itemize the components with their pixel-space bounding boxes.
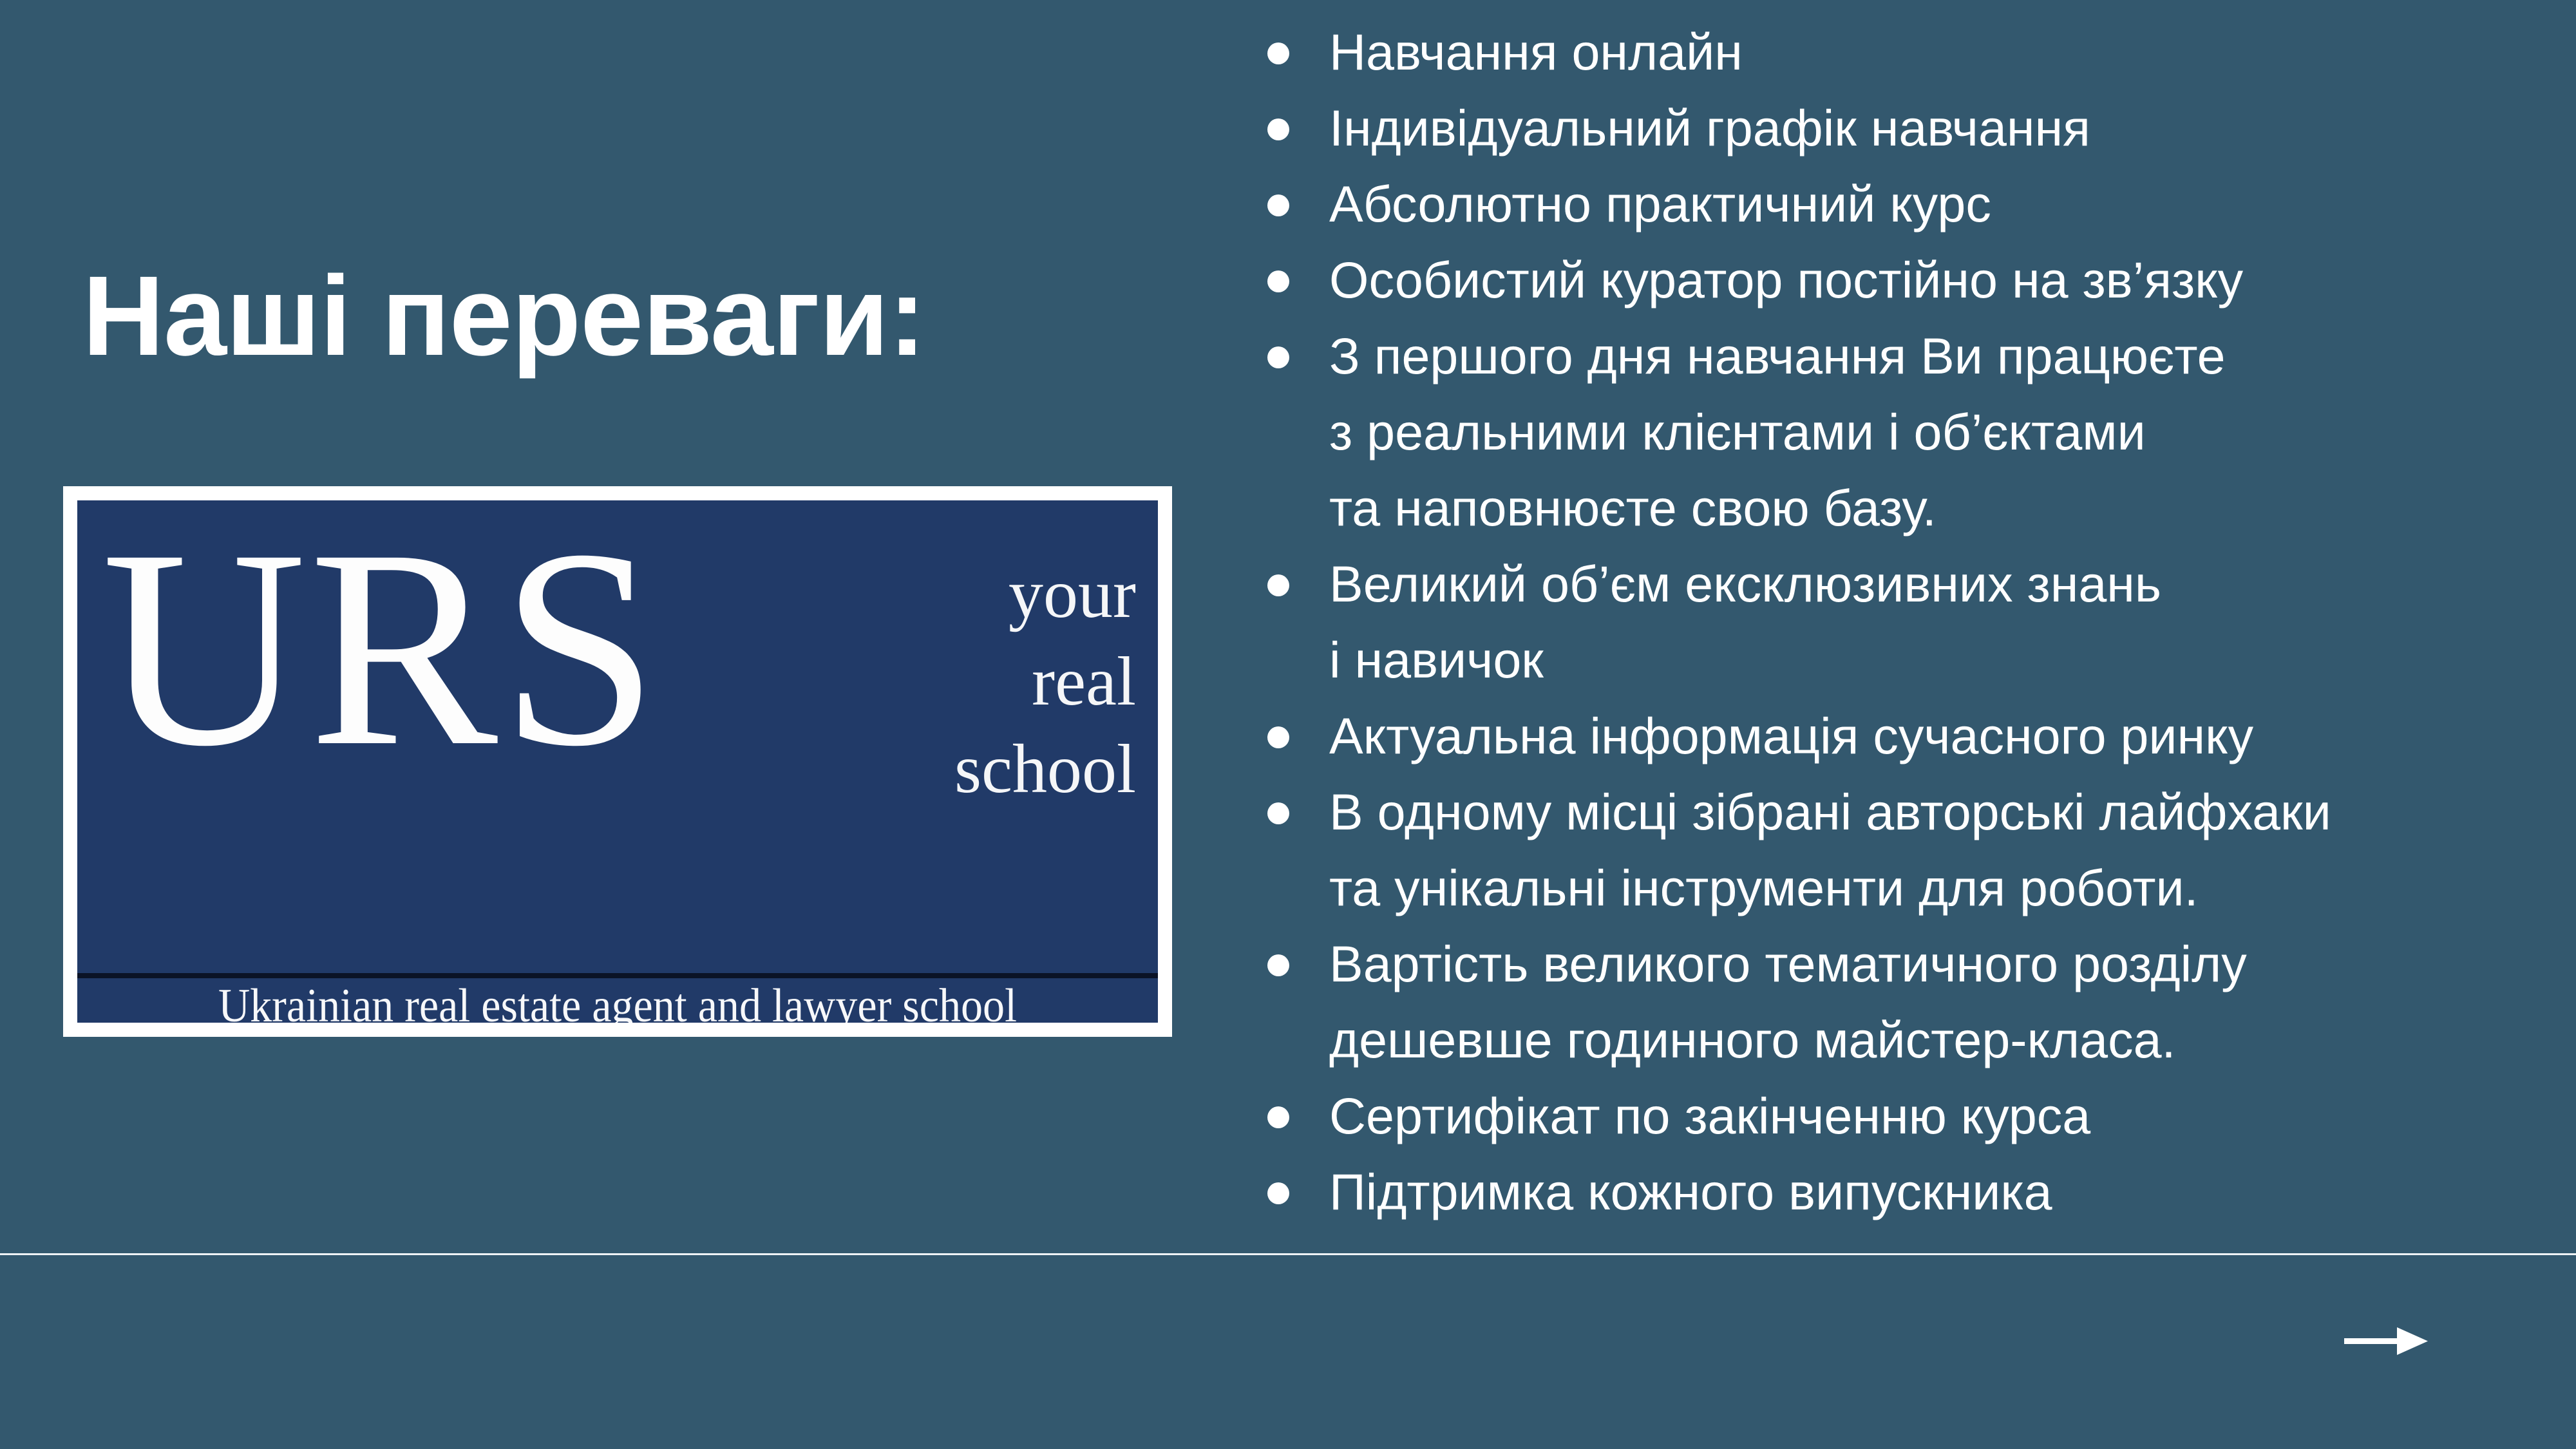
- bullet-dot-icon: [1267, 194, 1289, 216]
- list-item-line: з реальними клієнтами і об’єктами: [1329, 394, 2552, 470]
- bullet-dot-icon: [1267, 1106, 1289, 1128]
- list-item: Сертифікат по закінченню курса: [1264, 1078, 2552, 1154]
- list-item: Індивідуальний графік навчання: [1264, 90, 2552, 166]
- bullet-dot-icon: [1267, 43, 1289, 64]
- urs-tagline-line-3: school: [833, 726, 1136, 813]
- slide: Наші переваги: URS your real school Ukra…: [0, 0, 2576, 1449]
- arrow-right-icon[interactable]: [2344, 1319, 2428, 1364]
- bullet-dot-icon: [1267, 574, 1289, 596]
- urs-logo-subtitle: Ukrainian real estate agent and lawyer s…: [120, 982, 1115, 1023]
- urs-wordmark: URS: [102, 507, 661, 790]
- list-item-line: Підтримка кожного випускника: [1329, 1154, 2552, 1230]
- list-item-line: Актуальна інформація сучасного ринку: [1329, 698, 2552, 774]
- list-item-line: і навичок: [1329, 622, 2552, 698]
- bullet-dot-icon: [1267, 802, 1289, 824]
- list-item-line: Абсолютно практичний курс: [1329, 166, 2552, 242]
- list-item: В одному місці зібрані авторські лайфхак…: [1264, 774, 2552, 926]
- list-item: Актуальна інформація сучасного ринку: [1264, 698, 2552, 774]
- list-item: Навчання онлайн: [1264, 14, 2552, 90]
- list-item-line: та наповнюєте свою базу.: [1329, 470, 2552, 546]
- list-item-line: Великий об’єм ексклюзивних знань: [1329, 546, 2552, 622]
- bullet-dot-icon: [1267, 270, 1289, 292]
- urs-logo-divider: [77, 973, 1158, 978]
- list-item-line: В одному місці зібрані авторські лайфхак…: [1329, 774, 2552, 850]
- bullet-dot-icon: [1267, 954, 1289, 976]
- list-item-line: Особистий куратор постійно на зв’язку: [1329, 242, 2552, 318]
- list-item: Особистий куратор постійно на зв’язку: [1264, 242, 2552, 318]
- bullet-dot-icon: [1267, 118, 1289, 140]
- urs-tagline: your real school: [833, 551, 1136, 813]
- list-item: Вартість великого тематичного розділу де…: [1264, 926, 2552, 1078]
- list-item: Великий об’єм ексклюзивних знань і навич…: [1264, 546, 2552, 698]
- urs-tagline-line-2: real: [833, 638, 1136, 726]
- page-title: Наші переваги:: [82, 258, 1177, 375]
- advantages-list: Навчання онлайн Індивідуальний графік на…: [1264, 14, 2552, 1230]
- list-item-line: Індивідуальний графік навчання: [1329, 90, 2552, 166]
- footer-divider: [0, 1253, 2576, 1255]
- urs-logo: URS your real school Ukrainian real esta…: [63, 486, 1172, 1037]
- list-item-line: Вартість великого тематичного розділу: [1329, 926, 2552, 1002]
- next-slide-button[interactable]: [2344, 1319, 2428, 1364]
- urs-logo-panel: URS your real school Ukrainian real esta…: [77, 500, 1158, 1023]
- left-column: Наші переваги: URS your real school Ukra…: [0, 0, 1224, 1253]
- bullet-dot-icon: [1267, 1182, 1289, 1204]
- list-item-line: Навчання онлайн: [1329, 14, 2552, 90]
- bullet-dot-icon: [1267, 726, 1289, 748]
- list-item-line: дешевше годинного майстер-класа.: [1329, 1002, 2552, 1078]
- urs-tagline-line-1: your: [833, 551, 1136, 638]
- list-item: Підтримка кожного випускника: [1264, 1154, 2552, 1230]
- bullet-dot-icon: [1267, 346, 1289, 368]
- list-item-line: З першого дня навчання Ви працюєте: [1329, 318, 2552, 394]
- list-item: З першого дня навчання Ви працюєте з реа…: [1264, 318, 2552, 546]
- list-item-line: та унікальні інструменти для роботи.: [1329, 850, 2552, 926]
- list-item: Абсолютно практичний курс: [1264, 166, 2552, 242]
- list-item-line: Сертифікат по закінченню курса: [1329, 1078, 2552, 1154]
